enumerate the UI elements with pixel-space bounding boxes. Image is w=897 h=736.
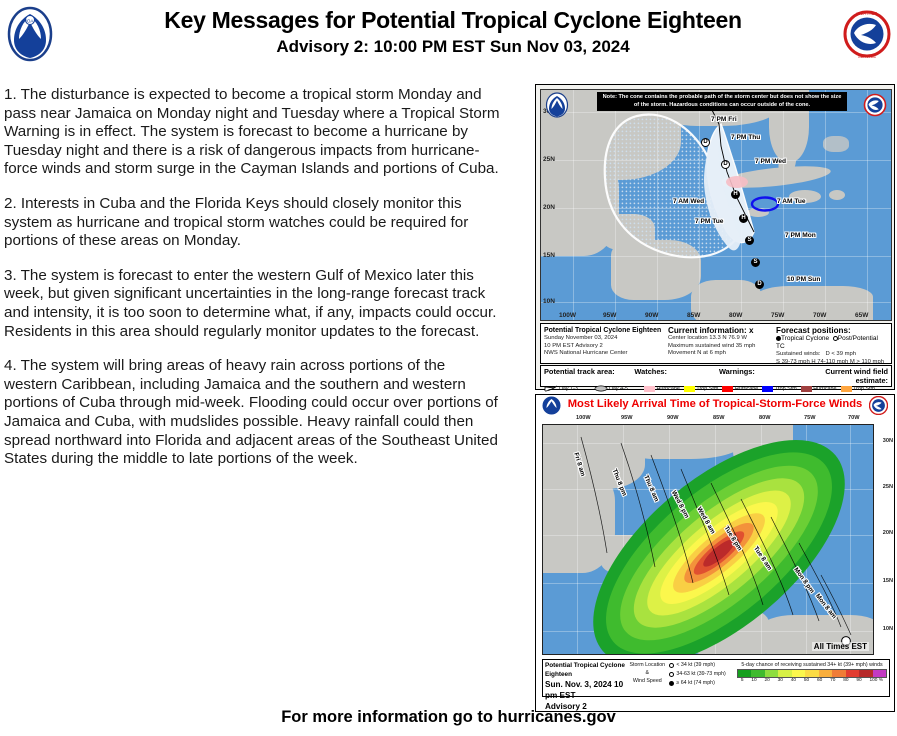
arrival-map[interactable]: Fri 8 am Thu 8 pm Thu 8 am Wed 8 pm Wed … <box>542 424 874 655</box>
ar-lon-75w: 75W <box>804 415 816 421</box>
label-7pm-tue: 7 PM Tue <box>695 218 723 225</box>
storm-name: Potential Tropical Cyclone Eighteen <box>544 326 662 335</box>
forecast-positions-header: Forecast positions: <box>776 326 888 335</box>
wind-trop-swatch <box>841 386 852 392</box>
label-7pm-fri: 7 PM Fri <box>711 116 737 123</box>
cone-info-current: Current information: x Center location 1… <box>665 324 773 363</box>
filled-circle-hurricane-icon <box>669 681 674 686</box>
label-7am-wed: 7 AM Wed <box>673 198 704 205</box>
svg-text:WEATHER: WEATHER <box>857 11 878 16</box>
arrival-title-row: Most Likely Arrival Time of Tropical-Sto… <box>536 395 894 415</box>
ar-lat-30n: 30N <box>883 438 893 444</box>
sustained-winds-label: Sustained winds: <box>776 351 821 357</box>
cat-3463-row: 34-63 kt (39-73 mph) <box>669 670 737 679</box>
cone-legend-headers: Potential track area: Watches: Warnings:… <box>541 366 891 385</box>
scale-swatch-10 <box>751 670 764 677</box>
cone-legend: Potential track area: Watches: Warnings:… <box>540 365 892 387</box>
lon-label-90w: 90W <box>645 312 658 319</box>
cat-ge64-row: ≥ 64 kt (74 mph) <box>669 679 737 688</box>
lon-label-65w: 65W <box>855 312 868 319</box>
cone-hatched-icon <box>594 385 608 392</box>
legend-watch-hurricane: Hurricane <box>644 386 680 392</box>
nws-logo: WEATHER SERVICE <box>843 6 891 62</box>
arrival-storm-name: Potential Tropical Cyclone Eighteen <box>545 661 625 679</box>
cat-3463-label: 34-63 kt (39-73 mph) <box>676 670 725 679</box>
forecast-cone <box>541 90 892 321</box>
nws-logo-overlay <box>863 92 887 118</box>
scale-swatch-20 <box>765 670 778 677</box>
ar-lat-15n: 15N <box>883 578 893 584</box>
lat-label-25n: 25N <box>543 156 555 163</box>
tick-20: 20 <box>761 678 774 683</box>
legend-watch-trop: Trop Stm <box>684 386 718 392</box>
center-location: Center location 13.3 N 76.9 W <box>668 335 770 343</box>
arrival-datetime: Sun. Nov. 3, 2024 10 pm EST <box>545 679 625 701</box>
storm-date: Sunday November 03, 2024 <box>544 335 662 343</box>
wind-trop-label: Trop Stm <box>853 386 875 392</box>
all-times-note: All Times EST <box>812 642 869 651</box>
scale-title: 5-day chance of receiving sustained 34+ … <box>737 661 887 669</box>
tick-40: 40 <box>787 678 800 683</box>
watch-trop-label: Trop Stm <box>696 386 718 392</box>
tick-50: 50 <box>800 678 813 683</box>
legend-day13: Day 1-3 <box>544 385 590 392</box>
track-area-title: Potential track area: <box>544 367 634 385</box>
scale-swatch-60 <box>819 670 832 677</box>
arrival-lon-axis: 100W 95W 90W 85W 80W 75W 70W <box>536 415 894 424</box>
legend-wind-hurricane: Hurricane <box>801 386 837 392</box>
scale-swatch-50 <box>805 670 818 677</box>
scale-swatch-40 <box>792 670 805 677</box>
wind-speed-label: Wind Speed <box>625 677 669 685</box>
svg-text:SERVICE: SERVICE <box>858 54 877 59</box>
forecast-point-fri[interactable]: D <box>701 138 710 147</box>
arrival-map-title: Most Likely Arrival Time of Tropical-Sto… <box>536 398 894 410</box>
legend-day45: Day 4-5 <box>594 385 640 392</box>
forecast-point-mon[interactable]: D <box>755 280 764 289</box>
tick-100: 100 % <box>866 678 887 683</box>
sustained-winds-row: Sustained winds: D < 39 mph <box>776 351 888 359</box>
tropical-cyclone-label: Tropical Cyclone <box>781 335 829 342</box>
storm-location-label: Storm Location <box>625 661 669 669</box>
lon-label-85w: 85W <box>687 312 700 319</box>
arrival-time-panel: Most Likely Arrival Time of Tropical-Sto… <box>535 394 895 712</box>
watch-hurricane-swatch <box>644 386 655 392</box>
ar-lon-85w: 85W <box>713 415 725 421</box>
arrival-symbol-block: Storm Location & Wind Speed <box>625 661 669 695</box>
wind-d-label: D < 39 mph <box>825 351 856 357</box>
arrival-storm-block: Potential Tropical Cyclone Eighteen Sun.… <box>545 661 625 695</box>
warn-trop-swatch <box>762 386 773 392</box>
scale-swatch-5 <box>738 670 751 677</box>
key-message-4: 4. The system will bring areas of heavy … <box>4 357 502 469</box>
title-block: Key Messages for Potential Tropical Cycl… <box>70 6 836 57</box>
tick-70: 70 <box>826 678 839 683</box>
cone-legend-items: Day 1-3 Day 4-5 Hurricane <box>541 385 891 392</box>
forecast-point-wed-am[interactable]: H <box>739 214 748 223</box>
key-message-3: 3. The system is forecast to enter the w… <box>4 267 502 341</box>
watch-hurricane-label: Hurricane <box>657 386 680 392</box>
label-7am-tue: 7 AM Tue <box>777 198 806 205</box>
movement: Movement N at 6 mph <box>668 350 770 358</box>
key-message-2: 2. Interests in Cuba and the Florida Key… <box>4 195 502 251</box>
lat-label-15n: 15N <box>543 252 555 259</box>
forecast-point-thu[interactable]: D <box>721 160 730 169</box>
tick-5: 5 <box>737 678 747 683</box>
watches-title: Watches: <box>634 367 719 385</box>
cone-forecast-panel: D D H H S S D 7 PM Fri 7 PM Thu 7 PM Wed… <box>535 84 895 390</box>
cone-info-table: Potential Tropical Cyclone Eighteen Sund… <box>540 323 892 364</box>
legend-wind-trop: Trop Stm <box>841 386 875 392</box>
arrival-info-bar: Potential Tropical Cyclone Eighteen Sun.… <box>542 659 890 697</box>
graphics-column: D D H H S S D 7 PM Fri 7 PM Thu 7 PM Wed… <box>535 84 895 712</box>
noaa-logo-overlay <box>545 92 569 118</box>
probability-scale-ticks: 5 10 20 30 40 50 60 70 80 90 100 % <box>737 678 887 683</box>
open-circle-small-icon <box>669 663 674 668</box>
legend-warn-trop: Trop Stm <box>762 386 796 392</box>
wind-hurricane-label: Hurricane <box>813 386 836 392</box>
key-messages-graphic: NOAA Key Messages for Potential Tropical… <box>0 0 897 736</box>
max-wind: Maximum sustained wind 35 mph <box>668 343 770 351</box>
cat-ge64-label: ≥ 64 kt (74 mph) <box>676 679 715 688</box>
tick-10: 10 <box>747 678 760 683</box>
lon-label-70w: 70W <box>813 312 826 319</box>
label-7pm-wed: 7 PM Wed <box>755 158 786 165</box>
open-circle-ts-icon <box>669 672 674 677</box>
warnings-title: Warnings: <box>719 367 804 385</box>
warn-hurricane-swatch <box>722 386 733 392</box>
watch-trop-swatch <box>684 386 695 392</box>
forecast-point-tue-am[interactable]: S <box>751 258 760 267</box>
advisory-subtitle: Advisory 2: 10:00 PM EST Sun Nov 03, 202… <box>70 37 836 57</box>
footer-text: For more information go to hurricanes.go… <box>0 708 897 727</box>
label-7pm-thu: 7 PM Thu <box>731 134 760 141</box>
nws-logo-arrival <box>869 396 888 415</box>
ar-lon-100w: 100W <box>576 415 591 421</box>
tick-30: 30 <box>774 678 787 683</box>
probability-color-scale <box>737 669 887 678</box>
header: NOAA Key Messages for Potential Tropical… <box>0 0 897 72</box>
legend-warn-hurricane: Hurricane <box>722 386 758 392</box>
tick-60: 60 <box>813 678 826 683</box>
legend-day13-label: Day 1-3 <box>559 386 578 392</box>
current-position-x-icon: x <box>749 326 754 335</box>
windfield-title: Current wind field estimate: <box>803 367 888 385</box>
lon-label-95w: 95W <box>603 312 616 319</box>
cone-info-storm: Potential Tropical Cyclone Eighteen Sund… <box>541 324 665 363</box>
scale-swatch-100 <box>873 670 886 677</box>
tick-90: 90 <box>852 678 865 683</box>
label-10pm-sun: 10 PM Sun <box>787 276 820 283</box>
forecast-point-wed-pm[interactable]: H <box>731 190 740 199</box>
scale-swatch-70 <box>832 670 845 677</box>
forecast-point-tue-pm[interactable]: S <box>745 236 754 245</box>
svg-text:NOAA: NOAA <box>24 19 37 24</box>
arrival-lat-axis: 30N 25N 20N 15N 10N <box>876 424 895 655</box>
ar-lon-70w: 70W <box>848 415 860 421</box>
lon-label-100w: 100W <box>559 312 576 319</box>
forecast-symbol-row: Tropical Cyclone Post/Potential TC <box>776 335 888 351</box>
scale-swatch-80 <box>846 670 859 677</box>
page-title: Key Messages for Potential Tropical Cycl… <box>70 6 836 34</box>
cat-lt34-label: < 34 kt (39 mph) <box>676 661 715 670</box>
label-7pm-mon: 7 PM Mon <box>785 232 816 239</box>
cat-lt34-row: < 34 kt (39 mph) <box>669 661 737 670</box>
key-messages-list: 1. The disturbance is expected to become… <box>4 86 502 485</box>
noaa-logo: NOAA <box>6 6 54 62</box>
warn-hurricane-label: Hurricane <box>735 386 758 392</box>
cone-info-forecast: Forecast positions: Tropical Cyclone Pos… <box>773 324 891 363</box>
current-info-header: Current information: x <box>668 326 770 335</box>
ar-lat-20n: 20N <box>883 530 893 536</box>
tick-80: 80 <box>839 678 852 683</box>
lon-label-80w: 80W <box>729 312 742 319</box>
arrival-scale-block: 5-day chance of receiving sustained 34+ … <box>737 661 887 695</box>
arrival-categories: < 34 kt (39 mph) 34-63 kt (39-73 mph) ≥ … <box>669 661 737 695</box>
ar-lat-10n: 10N <box>883 626 893 632</box>
ar-lon-80w: 80W <box>759 415 771 421</box>
scale-swatch-90 <box>859 670 872 677</box>
ampersand-label: & <box>625 669 669 677</box>
scale-swatch-30 <box>778 670 791 677</box>
lat-label-10n: 10N <box>543 298 555 305</box>
storm-advisory: 10 PM EST Advisory 2 <box>544 343 662 351</box>
cone-note: Note: The cone contains the probable pat… <box>597 92 847 111</box>
lat-label-20n: 20N <box>543 204 555 211</box>
arrival-probability-plume <box>543 425 874 655</box>
lon-label-75w: 75W <box>771 312 784 319</box>
ar-lon-95w: 95W <box>621 415 633 421</box>
wind-hurricane-swatch <box>801 386 812 392</box>
cone-map[interactable]: D D H H S S D 7 PM Fri 7 PM Thu 7 PM Wed… <box>540 89 892 321</box>
ar-lat-25n: 25N <box>883 484 893 490</box>
key-message-1: 1. The disturbance is expected to become… <box>4 86 502 179</box>
warn-trop-label: Trop Stm <box>775 386 797 392</box>
ar-lon-90w: 90W <box>667 415 679 421</box>
cone-outline-icon <box>544 385 558 392</box>
current-info-label: Current information: <box>668 326 747 335</box>
storm-agency: NWS National Hurricane Center <box>544 350 662 358</box>
legend-day45-label: Day 4-5 <box>609 386 628 392</box>
